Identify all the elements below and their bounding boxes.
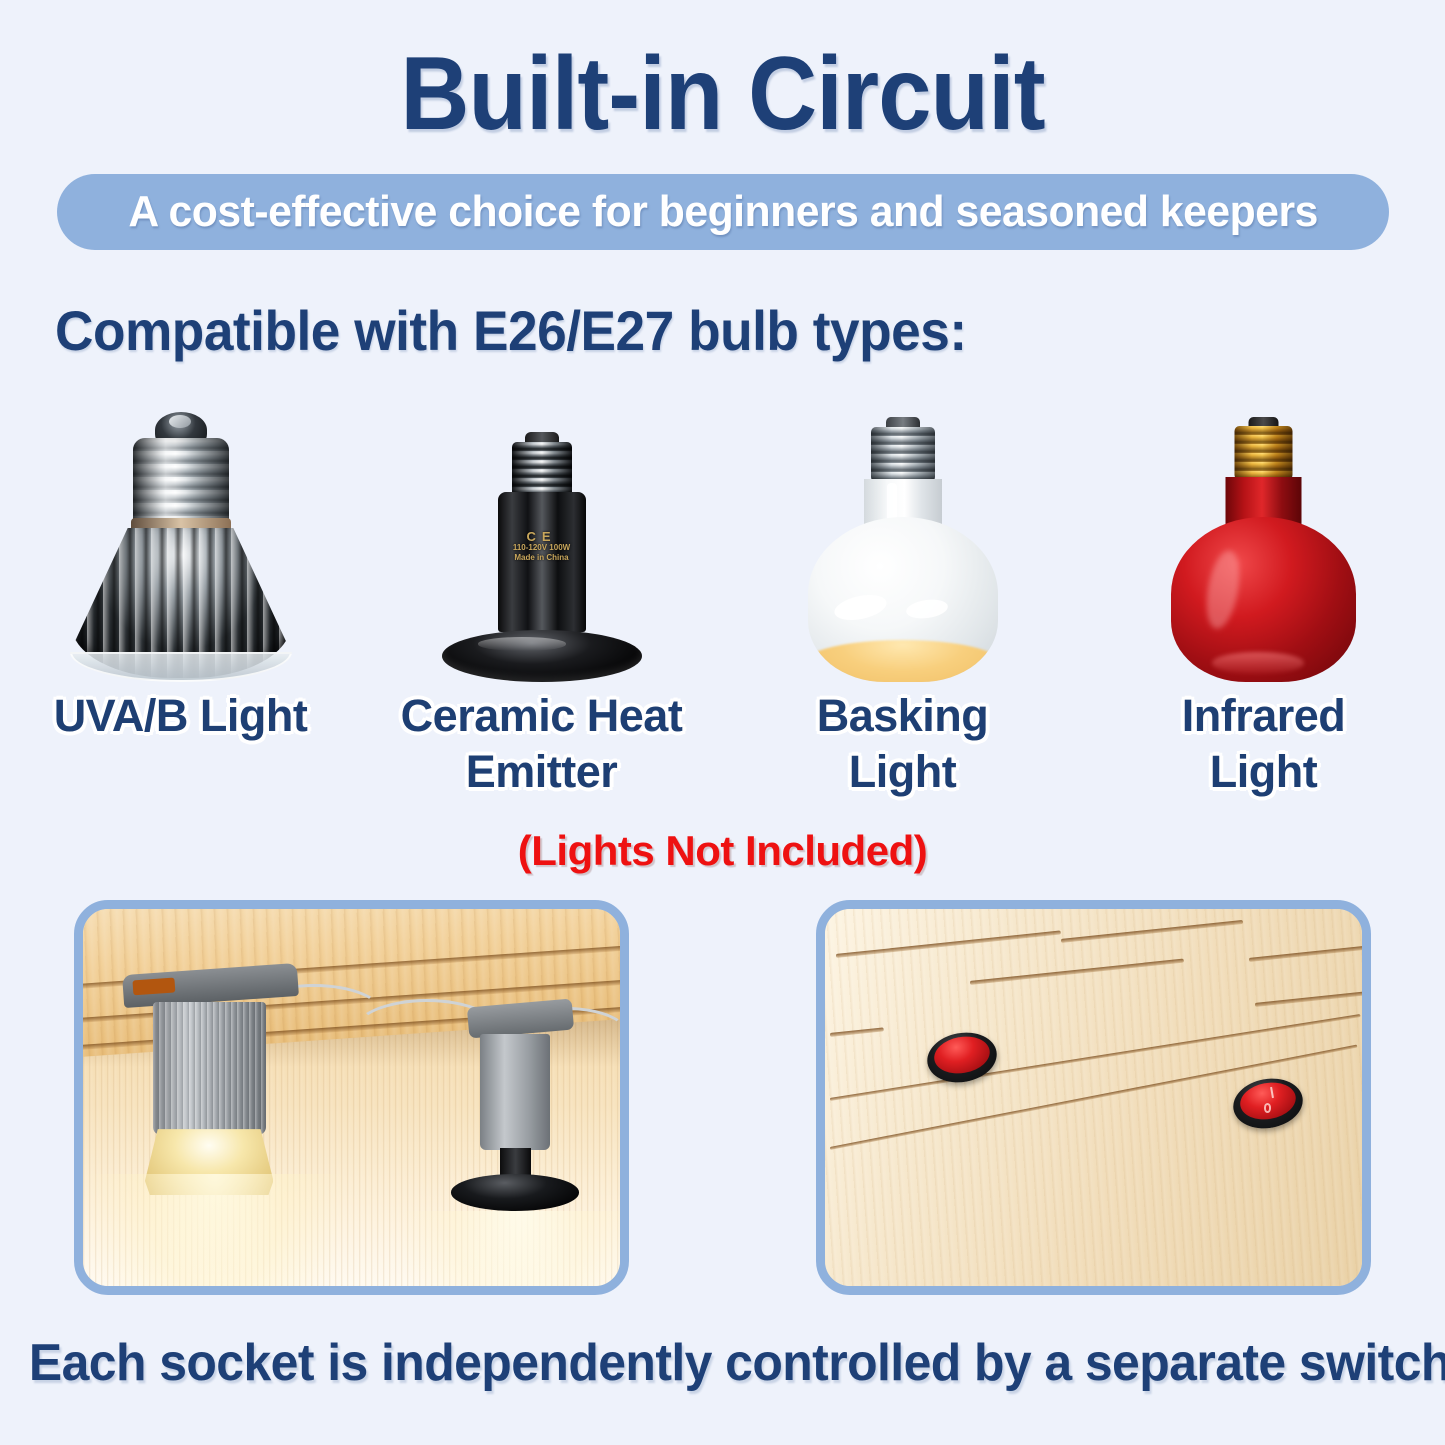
rocker-switch-right[interactable] <box>1233 1079 1303 1128</box>
uvab-screw-base <box>133 438 229 524</box>
vent-slot-5 <box>1254 991 1371 1007</box>
bulb-cell-uvab <box>0 392 361 682</box>
vent-slot-4 <box>1249 946 1367 962</box>
footer-caption: Each socket is independently controlled … <box>29 1332 1416 1394</box>
photo-row <box>0 900 1445 1295</box>
basking-globe <box>808 517 998 682</box>
ceramic-body-marking: CE 110-120V 100W Made in China <box>501 532 583 563</box>
basking-screw-base <box>871 427 935 482</box>
rocker-switches-photo <box>816 900 1371 1295</box>
socket-right-light-glow <box>404 1211 629 1295</box>
socket-left-light-glow <box>85 1174 344 1295</box>
socket-right-body <box>480 1034 550 1150</box>
ceramic-heat-emitter-icon: CE 110-120V 100W Made in China <box>442 432 642 682</box>
ce-symbol-text: CE <box>501 532 583 542</box>
ceramic-emitter-disc <box>451 1174 579 1210</box>
rocker-switch-left[interactable] <box>927 1033 997 1082</box>
bulb-label-basking-line2: Light <box>722 744 1083 800</box>
bulb-cell-ceramic: CE 110-120V 100W Made in China <box>361 392 722 682</box>
vent-slot-2 <box>1061 920 1243 943</box>
bulb-cell-basking <box>722 392 1083 682</box>
lights-not-included-disclaimer: (Lights Not Included) <box>0 826 1445 876</box>
ceramic-voltage-text: 110-120V 100W <box>513 543 570 552</box>
rocker-switches-photo-content <box>825 909 1362 1286</box>
lamp-socket-right <box>480 1030 550 1151</box>
bulb-label-basking-line1: Basking <box>722 688 1083 744</box>
subtitle-banner: A cost-effective choice for beginners an… <box>57 174 1389 250</box>
bulb-label-infrared-line1: Infrared <box>1083 688 1444 744</box>
bulb-label-basking: Basking Light <box>722 688 1083 818</box>
vent-slot-3 <box>970 958 1184 984</box>
infrared-globe <box>1171 517 1356 682</box>
uvab-front-rim <box>70 652 292 682</box>
page-title: Built-in Circuit <box>58 36 1387 152</box>
vent-slot-6 <box>830 1028 884 1038</box>
basking-highlight-left <box>832 591 889 625</box>
bulb-label-infrared-line2: Light <box>1083 744 1444 800</box>
bulb-label-uvab: UVA/B Light <box>0 688 361 818</box>
socket-left-body <box>153 1002 266 1135</box>
uvab-reflector-bulb-icon <box>71 412 291 682</box>
basking-warm-glow <box>808 640 998 682</box>
bulb-label-row: UVA/B Light Ceramic Heat Emitter Basking… <box>0 688 1445 818</box>
bulb-cell-infrared <box>1083 392 1444 682</box>
compatibility-heading: Compatible with E26/E27 bulb types: <box>55 298 967 364</box>
bulb-label-uvab-line1: UVA/B Light <box>0 688 361 744</box>
socket-right-ceramic-emitter <box>451 1148 579 1211</box>
ceramic-screw-base <box>512 442 572 498</box>
bulb-label-ceramic: Ceramic Heat Emitter <box>361 688 722 818</box>
bulb-label-infrared: Infrared Light <box>1083 688 1444 818</box>
infrared-bottom-highlight <box>1212 652 1305 674</box>
subtitle-text: A cost-effective choice for beginners an… <box>128 187 1317 237</box>
infrared-highlight <box>1201 548 1244 631</box>
vent-slot-1 <box>836 931 1061 959</box>
ceramic-flared-base <box>442 630 642 682</box>
basking-highlight-right <box>905 597 949 621</box>
lamp-socket-left <box>153 984 266 1135</box>
bulb-label-ceramic-line1: Ceramic Heat <box>361 688 722 744</box>
bulb-label-ceramic-line2: Emitter <box>361 744 722 800</box>
infrared-bulb-icon <box>1171 417 1356 682</box>
lamp-sockets-installed-photo <box>74 900 629 1295</box>
bulb-image-row: CE 110-120V 100W Made in China <box>0 392 1445 682</box>
infrared-brass-screw-base <box>1235 426 1293 480</box>
lamp-sockets-photo-content <box>83 909 620 1286</box>
basking-bulb-icon <box>808 417 998 682</box>
ceramic-origin-text: Made in China <box>514 553 568 562</box>
